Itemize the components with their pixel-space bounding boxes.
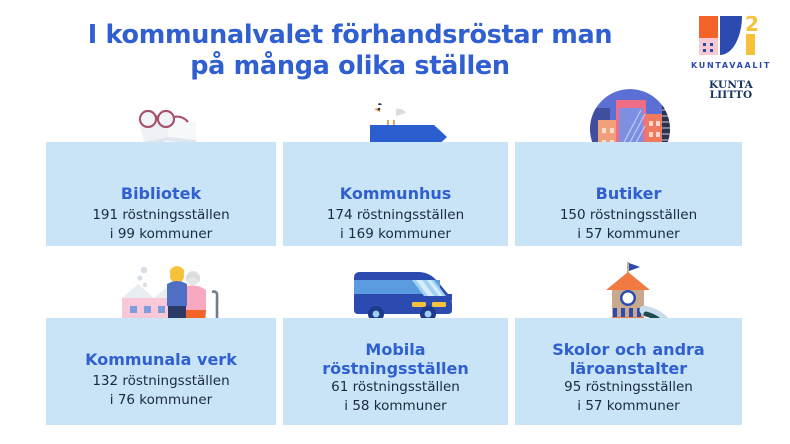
bus-icon <box>348 268 458 324</box>
card-kommunhus[interactable]: Kommunhus 174 röstningsställen i 169 kom… <box>283 142 508 246</box>
card-locations-line: 61 röstningsställen <box>283 378 508 397</box>
card-body: 191 röstningsställen i 99 kommuner <box>46 206 276 244</box>
card-municipalities-line: i 57 kommuner <box>515 397 742 416</box>
kuntaliitto-logo: KUNTA LIITTO <box>676 81 786 100</box>
title-line-2: på många olika ställen <box>30 51 670 82</box>
card-locations-line: 150 röstningsställen <box>515 206 742 225</box>
logo-pink-house-block <box>699 38 718 55</box>
logo-block: 2 KUNTAVAALIT KUNTA LIITTO <box>676 14 786 104</box>
card-title-line-2: läroanstalter <box>515 359 742 378</box>
infographic-page: I kommunalvalet förhandsröstar man på må… <box>0 0 790 444</box>
card-bibliotek[interactable]: Bibliotek 191 röstningsställen i 99 komm… <box>46 142 276 246</box>
card-body: 150 röstningsställen i 57 kommuner <box>515 206 742 244</box>
card-locations-line: 191 röstningsställen <box>46 206 276 225</box>
card-butiker[interactable]: Butiker 150 röstningsställen i 57 kommun… <box>515 142 742 246</box>
card-body: 174 röstningsställen i 169 kommuner <box>283 206 508 244</box>
card-municipalities-line: i 76 kommuner <box>46 391 276 410</box>
card-locations-line: 132 röstningsställen <box>46 372 276 391</box>
card-municipalities-line: i 57 kommuner <box>515 225 742 244</box>
logo-orange-block <box>699 16 718 38</box>
title-line-1: I kommunalvalet förhandsröstar man <box>88 20 612 50</box>
logo-digit-one <box>746 34 755 55</box>
logo-wordmark: KUNTAVAALIT <box>676 61 786 70</box>
card-municipalities-line: i 58 kommuner <box>283 397 508 416</box>
logo-digit-two: 2 <box>745 14 765 34</box>
header: I kommunalvalet förhandsröstar man på må… <box>0 0 790 100</box>
logo-window-dot <box>703 49 706 52</box>
card-locations-line: 95 röstningsställen <box>515 378 742 397</box>
logo-blue-shape <box>720 16 742 55</box>
card-municipalities-line: i 99 kommuner <box>46 225 276 244</box>
logo-window-dot <box>710 49 713 52</box>
card-title: Butiker <box>515 184 742 203</box>
logo-window-dot <box>703 43 706 46</box>
card-skolor-och-andra-laroanstalter[interactable]: Skolor och andra läroanstalter 95 röstni… <box>515 318 742 425</box>
logo-window-dot <box>710 43 713 46</box>
card-body: 61 röstningsställen i 58 kommuner <box>283 378 508 416</box>
bird-icon <box>374 103 406 125</box>
card-title: Skolor och andra läroanstalter <box>515 340 742 378</box>
card-mobila-rostningsstallen[interactable]: Mobila röstningsställen 61 röstningsstäl… <box>283 318 508 425</box>
card-title: Kommunala verk <box>46 350 276 369</box>
card-body: 95 röstningsställen i 57 kommuner <box>515 378 742 416</box>
card-title: Kommunhus <box>283 184 508 203</box>
page-title: I kommunalvalet förhandsröstar man på må… <box>30 20 670 82</box>
card-title-line-1: Skolor och andra <box>515 340 742 359</box>
card-title-line-1: Mobila <box>283 340 508 359</box>
card-body: 132 röstningsställen i 76 kommuner <box>46 372 276 410</box>
kuntaliitto-line-2: LIITTO <box>676 91 786 101</box>
card-locations-line: 174 röstningsställen <box>283 206 508 225</box>
card-kommunala-verk[interactable]: Kommunala verk 132 röstningsställen i 76… <box>46 318 276 425</box>
card-title: Mobila röstningsställen <box>283 340 508 378</box>
card-title-line-2: röstningsställen <box>283 359 508 378</box>
card-title: Bibliotek <box>46 184 276 203</box>
card-municipalities-line: i 169 kommuner <box>283 225 508 244</box>
kuntavaalit-logo-icon: 2 <box>693 14 769 56</box>
